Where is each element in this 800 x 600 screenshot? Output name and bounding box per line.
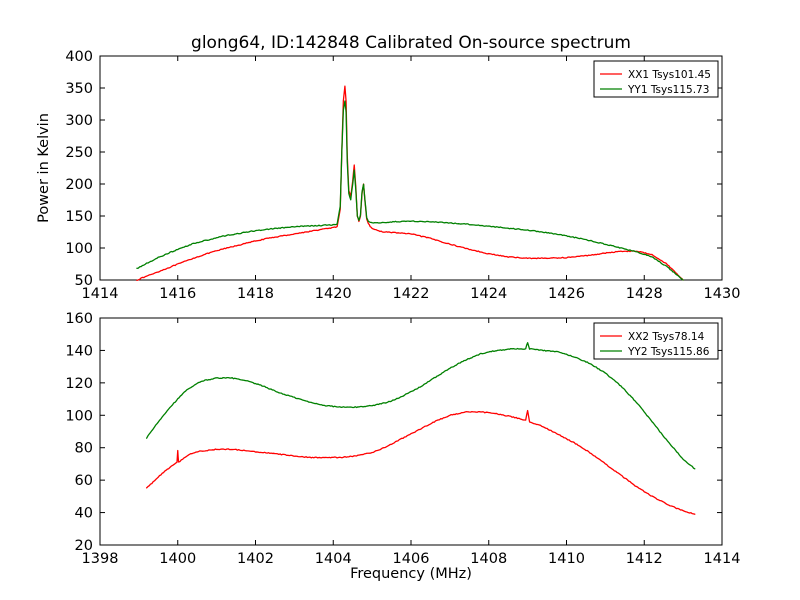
legend-label: XX1 Tsys101.45 [628,69,711,81]
panel-bottom-offline: 1398140014021404140614081410141214142040… [65,311,740,567]
x-tick-label: 1414 [704,551,741,567]
legend-label: XX2 Tsys78.14 [628,331,705,343]
y-tick-label: 250 [65,145,93,161]
y-axis-label-top: Power in Kelvin [36,113,52,223]
page-title: glong64, ID:142848 Calibrated On-source … [191,33,631,53]
x-tick-label: 1424 [470,286,507,302]
spectrum-plot: glong64, ID:142848 Calibrated On-source … [0,0,800,600]
x-tick-label: 1402 [237,551,274,567]
x-tick-label: 1422 [393,286,430,302]
x-tick-label: 1406 [393,551,430,567]
legend-label: YY2 Tsys115.86 [627,346,710,358]
panel-top-onsource: 1414141614181420142214241426142814305010… [65,49,740,302]
x-tick-label: 1408 [470,551,507,567]
y-tick-label: 80 [75,441,93,457]
x-tick-label: 1410 [548,551,585,567]
y-tick-label: 60 [75,473,93,489]
y-tick-label: 120 [65,376,93,392]
x-tick-label: 1416 [159,286,196,302]
y-tick-label: 400 [65,49,93,65]
x-tick-label: 1420 [315,286,352,302]
x-tick-label: 1426 [548,286,585,302]
y-tick-label: 20 [75,538,93,554]
x-tick-label: 1430 [704,286,741,302]
y-tick-label: 40 [75,506,93,522]
legend-label: YY1 Tsys115.73 [627,84,709,96]
y-tick-label: 50 [75,273,93,289]
y-tick-label: 160 [65,311,93,327]
x-tick-label: 1418 [237,286,274,302]
data-trace-xx [137,86,683,280]
x-tick-label: 1412 [626,551,663,567]
y-tick-label: 140 [65,343,93,359]
x-axis-label-bottom: Frequency (MHz) [350,566,472,582]
y-tick-label: 300 [65,113,93,129]
x-tick-label: 1404 [315,551,352,567]
data-trace-xx [147,411,695,515]
y-tick-label: 200 [65,177,93,193]
figure-canvas: glong64, ID:142848 Calibrated On-source … [0,0,800,600]
y-tick-label: 100 [65,241,93,257]
x-tick-label: 1428 [626,286,663,302]
y-tick-label: 350 [65,81,93,97]
x-tick-label: 1400 [159,551,196,567]
y-tick-label: 100 [65,408,93,424]
y-tick-label: 150 [65,209,93,225]
